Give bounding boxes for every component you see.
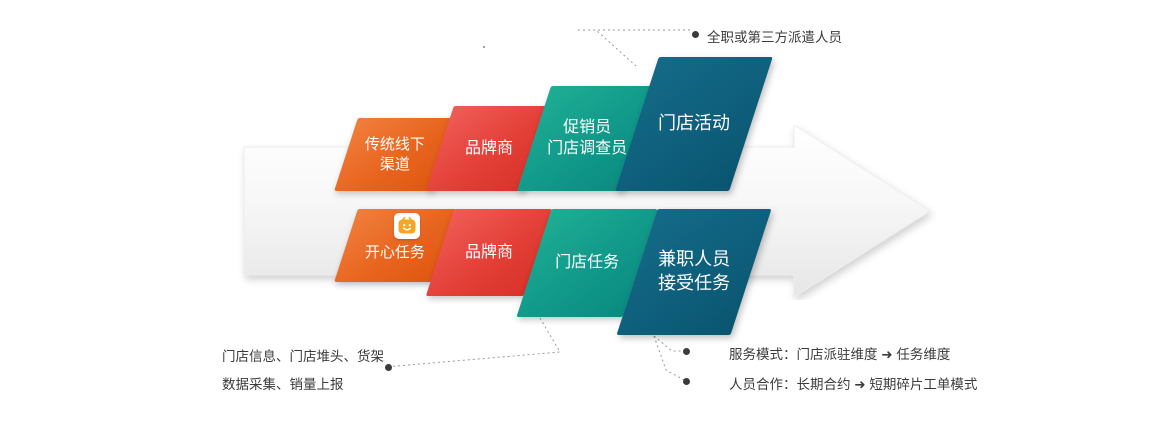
smiley-icon (394, 213, 420, 239)
block-bottom-3-label: 门店任务 (555, 252, 619, 273)
diagram-canvas: 传统线下 渠道 品牌商 促销员 门店调查员 门店活动 开心任务 品牌商 门店任务… (0, 0, 1150, 430)
callout-bottom-left-line1: 门店信息、门店堆头、货架 (222, 344, 384, 370)
block-top-3-label: 促销员 门店调查员 (547, 117, 627, 159)
callout-dot-bottom-left (385, 364, 392, 371)
callout-top: 全职或第三方派遣人员 (707, 25, 842, 51)
block-bottom-4-label: 兼职人员 接受任务 (658, 248, 730, 296)
block-top-1-label: 传统线下 渠道 (365, 135, 425, 175)
callout-bottom-right-line1: 服务模式：门店派驻维度 ➜ 任务维度 (729, 342, 950, 368)
callout-bottom-left-line2: 数据采集、销量上报 (222, 372, 344, 398)
callout-dot-top (692, 31, 699, 38)
block-top-2-label: 品牌商 (465, 138, 513, 159)
smiley-glyph (397, 216, 417, 236)
block-bottom-2-label: 品牌商 (465, 242, 513, 263)
callout-dot-bottom-right-2 (683, 378, 690, 385)
block-top-4-label: 门店活动 (658, 112, 730, 136)
callout-dot-bottom-right-1 (683, 348, 690, 355)
callout-bottom-right-line2: 人员合作：长期合约 ➜ 短期碎片工单模式 (729, 372, 977, 398)
